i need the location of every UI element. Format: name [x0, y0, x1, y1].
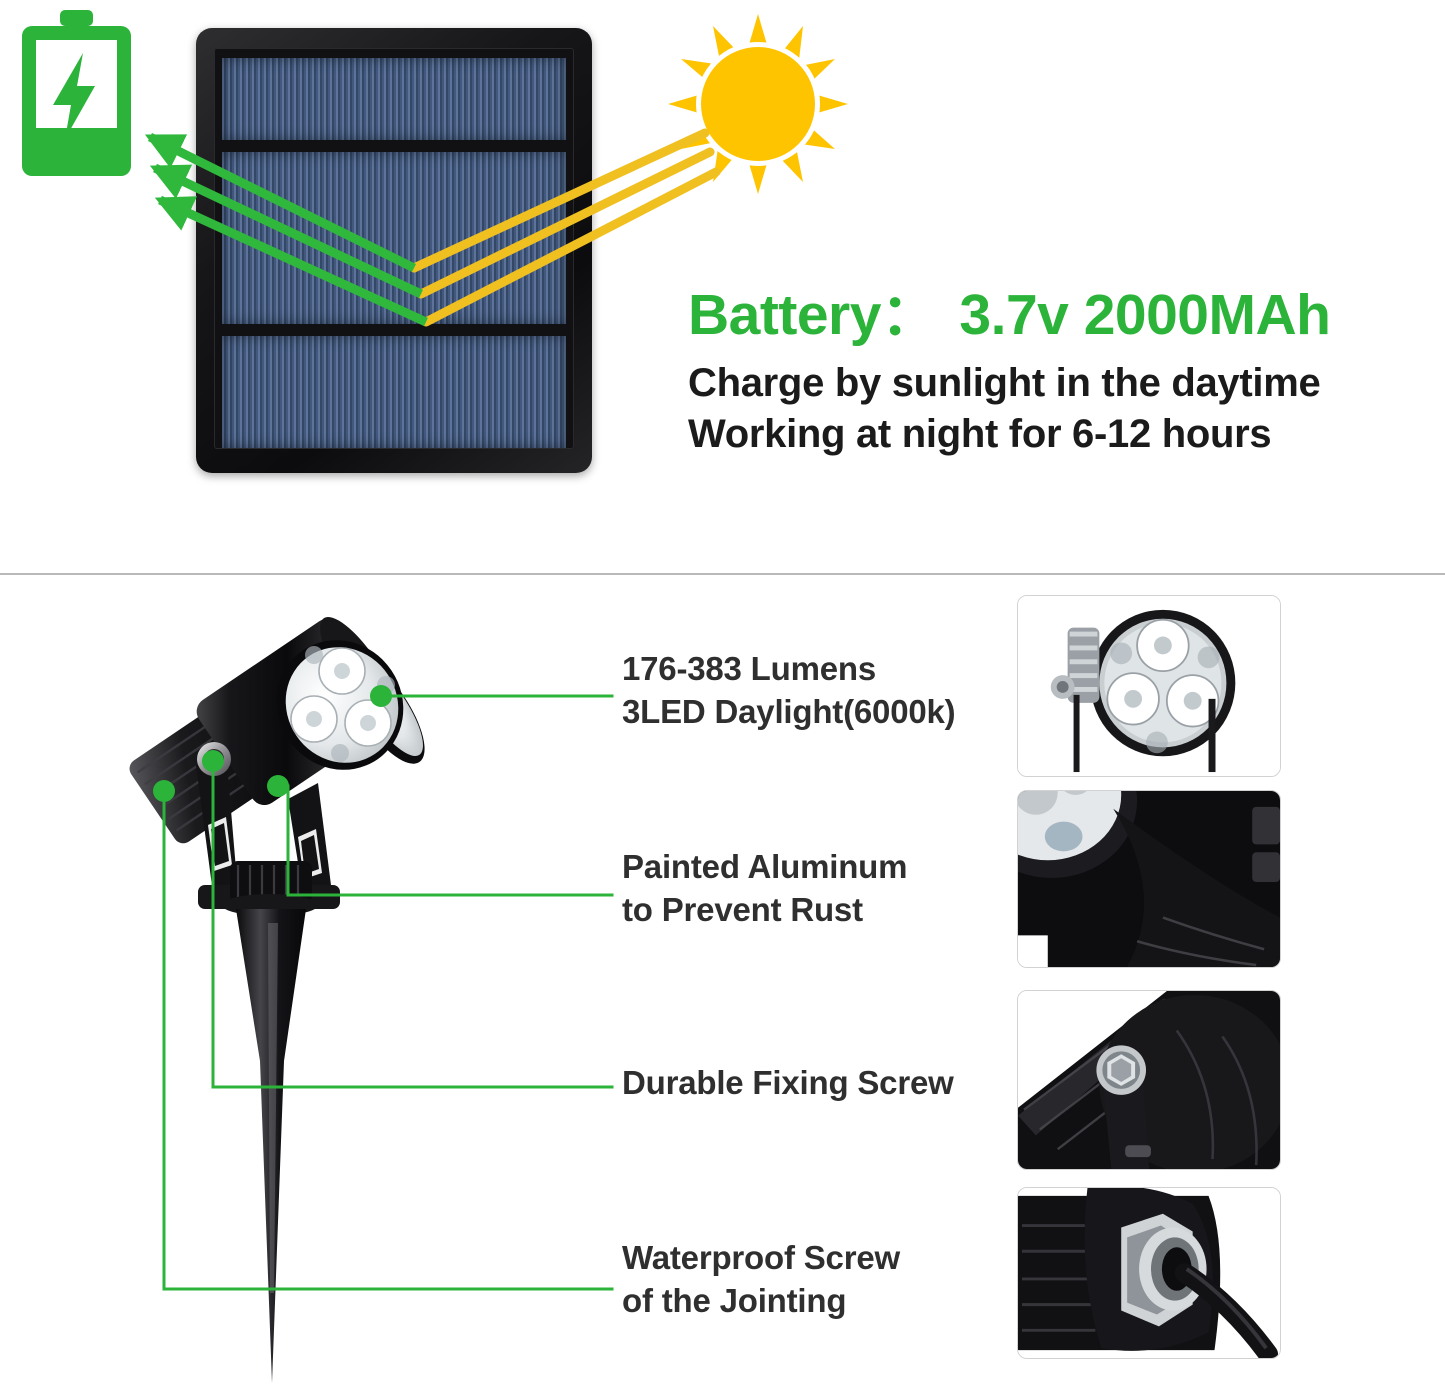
- detail-panel-led-closeup: [1017, 595, 1281, 777]
- battery-headline-label: Battery：: [688, 283, 937, 347]
- solar-cell-band-top: [222, 58, 566, 140]
- detail-aluminum-body: [1018, 791, 1280, 967]
- callout-dot-screw: [202, 750, 224, 772]
- battery-subtitle-daytime: Charge by sunlight in the daytime: [688, 358, 1418, 409]
- sun-icon: [668, 14, 848, 194]
- solar-spotlight-with-ground-stake: [118, 593, 448, 1383]
- battery-spec-text: Battery：3.7v 2000MAh Charge by sunlight …: [688, 286, 1418, 461]
- callout-dot-led: [370, 685, 392, 707]
- battery-subtitle-night: Working at night for 6-12 hours: [688, 409, 1418, 460]
- detail-panel-screw-closeup: [1017, 990, 1281, 1170]
- callout-dot-waterproof: [153, 780, 175, 802]
- feature-led-line-2: 3LED Daylight(6000k): [622, 691, 955, 734]
- product-features-section: 176-383 Lumens 3LED Daylight(6000k) Pain…: [0, 575, 1445, 1376]
- battery-headline-value: 3.7v 2000MAh: [959, 283, 1330, 347]
- detail-panel-waterproof-closeup: [1017, 1187, 1281, 1359]
- feature-label-screw: Durable Fixing Screw: [622, 1062, 954, 1105]
- feature-waterproof-line-2: of the Jointing: [622, 1280, 900, 1323]
- feature-waterproof-line-1: Waterproof Screw: [622, 1237, 900, 1280]
- detail-panel-aluminum-closeup: [1017, 790, 1281, 968]
- solar-panel-photo: [196, 28, 592, 473]
- solar-cell-band-bottom: [222, 336, 566, 448]
- solar-cell-band-middle: [222, 152, 566, 324]
- ground-stake: [222, 894, 318, 1383]
- battery-charging-icon: [20, 8, 132, 178]
- battery-headline: Battery：3.7v 2000MAh: [688, 286, 1418, 344]
- battery-spec-section: Battery：3.7v 2000MAh Charge by sunlight …: [0, 0, 1445, 574]
- feature-label-aluminum: Painted Aluminum to Prevent Rust: [622, 846, 907, 932]
- feature-screw-line-1: Durable Fixing Screw: [622, 1062, 954, 1105]
- solar-panel-cells: [214, 48, 574, 449]
- feature-label-led: 176-383 Lumens 3LED Daylight(6000k): [622, 648, 955, 734]
- feature-aluminum-line-2: to Prevent Rust: [622, 889, 907, 932]
- callout-dot-aluminum: [267, 775, 289, 797]
- feature-led-line-1: 176-383 Lumens: [622, 648, 955, 691]
- feature-aluminum-line-1: Painted Aluminum: [622, 846, 907, 889]
- feature-label-waterproof: Waterproof Screw of the Jointing: [622, 1237, 900, 1323]
